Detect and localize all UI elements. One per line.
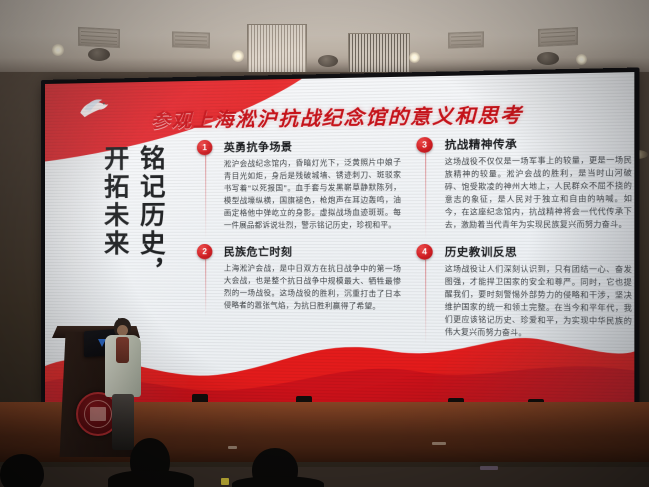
lecture-hall-photo: 参观上海淞沪抗战纪念馆的意义和思考 铭记历史， 开拓未来 1 英勇抗争场景 淞沪… (0, 0, 649, 487)
point-heading: 英勇抗争场景 (224, 137, 401, 155)
ceiling-speaker-icon (537, 52, 559, 65)
point-body: 淞沪会战纪念馆内，昏暗灯光下，泛黄照片中娘子青目光如炬，身后是残破城墙、锈迹刺刀… (224, 156, 401, 232)
ceiling-downlight-icon (232, 50, 244, 62)
stage-debris (221, 478, 229, 485)
ceiling-vent-icon (172, 31, 210, 48)
vertical-calligraphy-block: 铭记历史， 开拓未来 (87, 144, 166, 317)
ceiling-downlight-icon (409, 52, 420, 63)
stage-debris (480, 466, 498, 470)
point-heading: 抗战精神传承 (445, 134, 632, 152)
presenter (104, 318, 144, 448)
point-heading: 民族危亡时刻 (224, 244, 401, 260)
ceiling-grille-icon (348, 33, 410, 77)
vertical-line-1: 铭记历史， (136, 144, 166, 317)
ceiling (0, 0, 649, 80)
audience-head (0, 454, 44, 487)
ceiling-downlight-icon (576, 54, 587, 65)
point-heading: 历史教训反思 (445, 244, 632, 260)
audience-shoulders (232, 476, 324, 487)
ceiling-vent-icon (78, 27, 120, 48)
ceiling-vent-icon (448, 31, 484, 48)
vertical-line-2: 开拓未来 (100, 145, 130, 317)
slide-point: 3 抗战精神传承 这场战役不仅仅是一场军事上的较量，更是一场民族精神的较量。淞沪… (416, 134, 632, 232)
stage-debris (432, 442, 446, 445)
point-number-badge: 4 (416, 244, 432, 260)
audience-shoulders (108, 470, 194, 487)
point-number-badge: 3 (416, 137, 432, 153)
point-body: 这场战役不仅仅是一场军事上的较量，更是一场民族精神的较量。淞沪会战的胜利，是当时… (445, 154, 632, 232)
point-body: 上海淞沪会战，是中日双方在抗日战争中的第一场大会战，也是整个抗日战争中规模最大、… (224, 262, 401, 313)
presenter-legs (112, 394, 134, 450)
slide-point: 1 英勇抗争场景 淞沪会战纪念馆内，昏暗灯光下，泛黄照片中娘子青目光如炬，身后是… (197, 137, 401, 232)
point-number-badge: 2 (197, 244, 213, 259)
peace-dove-icon (73, 93, 117, 124)
stage-debris (228, 446, 237, 449)
ceiling-speaker-icon (318, 55, 338, 67)
ceiling-speaker-icon (88, 48, 110, 61)
point-number-badge: 1 (197, 140, 213, 155)
ceiling-vent-icon (538, 27, 578, 47)
ceiling-downlight-icon (52, 44, 64, 56)
slide-point: 2 民族危亡时刻 上海淞沪会战，是中日双方在抗日战争中的第一场大会战，也是整个抗… (197, 244, 401, 313)
presenter-scarf (116, 337, 129, 363)
